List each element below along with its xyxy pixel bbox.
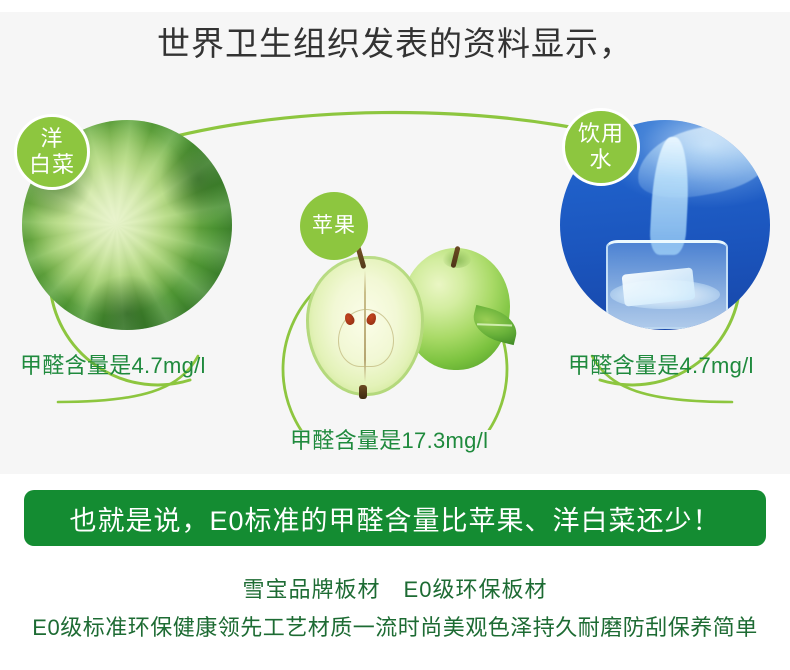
top-white-band: [0, 0, 790, 12]
footer-features-line: E0级标准环保健康领先工艺材质一流时尚美观色泽持久耐磨防刮保养简单: [0, 610, 790, 642]
conclusion-banner-text: 也就是说，E0标准的甲醛含量比苹果、洋白菜还少！: [69, 499, 720, 538]
footer-brand-line: 雪宝品牌板材 E0级环保板材: [0, 572, 790, 604]
badge-cabbage: 洋 白菜: [14, 114, 90, 190]
caption-cabbage: 甲醛含量是4.7mg/l: [20, 348, 206, 380]
conclusion-banner: 也就是说，E0标准的甲醛含量比苹果、洋白菜还少！: [24, 490, 766, 546]
halved-apple: [306, 256, 424, 396]
caption-apple: 甲醛含量是17.3mg/l: [290, 423, 488, 455]
caption-water: 甲醛含量是4.7mg/l: [568, 348, 754, 380]
page-title: 世界卫生组织发表的资料显示，: [0, 22, 790, 66]
badge-apple: 苹果: [300, 192, 368, 260]
badge-water: 饮用 水: [562, 108, 640, 186]
promo-infographic-page: 世界卫生组织发表的资料显示，: [0, 0, 790, 670]
apple-blossom-end: [359, 385, 367, 399]
